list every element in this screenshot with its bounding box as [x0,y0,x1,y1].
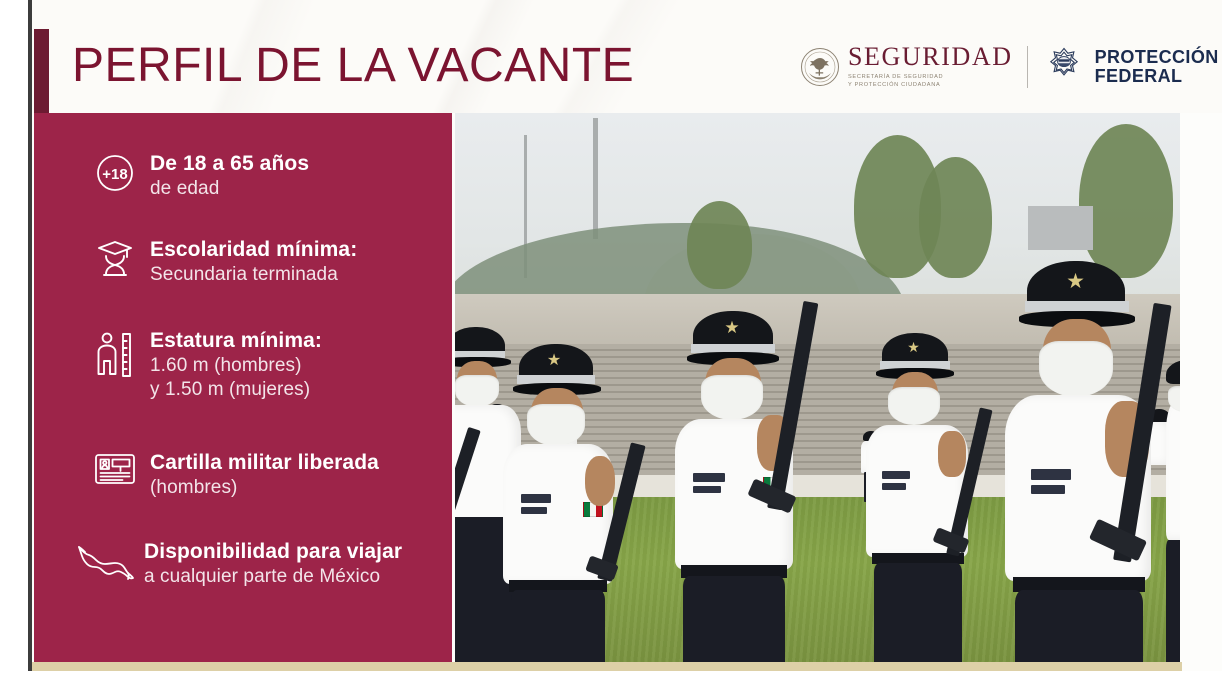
height-ruler-person-icon [92,328,138,380]
seguridad-subtitle: SECRETARÍA DE SEGURIDAD Y PROTECCIÓN CIU… [848,73,1013,89]
title-accent-bar [34,29,49,113]
graduation-cap-icon [92,237,138,283]
seguridad-word: SEGURIDAD [848,44,1013,70]
requirement-title: Disponibilidad para viajar [144,539,402,565]
age-plus-18-icon: +18 [92,151,138,193]
police-star-badge-icon [1042,45,1086,89]
requirement-text-schooling: Escolaridad mínima: Secundaria terminada [150,237,357,287]
requirement-item-travel: Disponibilidad para viajar a cualquier p… [76,539,402,589]
requirement-title: De 18 a 65 años [150,151,309,177]
requirement-subtitle: a cualquier parte de México [144,565,402,589]
seguridad-subtitle-line2: Y PROTECCIÓN CIUDADANA [848,81,1013,89]
left-edge-rule [28,0,32,698]
requirements-panel: +18 De 18 a 65 años de edad [34,113,452,662]
seguridad-logo: SEGURIDAD SECRETARÍA DE SEGURIDAD Y PROT… [800,44,1013,89]
requirement-title: Estatura mínima: [150,328,322,354]
requirement-item-height: Estatura mínima: 1.60 m (hombres) y 1.50… [92,328,322,401]
photo-tree [687,201,752,289]
requirement-subtitle: Secundaria terminada [150,263,357,287]
requirement-subtitle: (hombres) [150,476,379,500]
bottom-accent-strip [32,662,1182,671]
requirement-text-travel: Disponibilidad para viajar a cualquier p… [144,539,402,589]
seguridad-subtitle-line1: SECRETARÍA DE SEGURIDAD [848,73,1013,81]
mexico-map-icon [76,539,136,585]
mexican-eagle-seal-icon [800,47,840,87]
logo-group: SEGURIDAD SECRETARÍA DE SEGURIDAD Y PROT… [800,44,1219,89]
page-title: PERFIL DE LA VACANTE [72,38,634,93]
requirement-text-age: De 18 a 65 años de edad [150,151,309,201]
requirement-item-schooling: Escolaridad mínima: Secundaria terminada [92,237,357,287]
proteccion-federal-wordmark: PROTECCIÓN FEDERAL [1095,48,1219,86]
pf-line2: FEDERAL [1095,67,1219,86]
requirement-subtitle-2: y 1.50 m (mujeres) [150,378,322,402]
photo-building [1028,206,1093,250]
requirement-subtitle: de edad [150,177,309,201]
requirement-text-military-card: Cartilla militar liberada (hombres) [150,450,379,500]
photo-power-tower [593,118,598,239]
id-card-icon [92,450,138,488]
requirement-subtitle: 1.60 m (hombres) [150,354,322,378]
seguridad-wordmark: SEGURIDAD SECRETARÍA DE SEGURIDAD Y PROT… [848,44,1013,89]
pf-line1: PROTECCIÓN [1095,48,1219,67]
logo-divider [1027,46,1028,88]
cadets-formation-photo: ★ ★ [455,113,1180,662]
proteccion-federal-logo: PROTECCIÓN FEDERAL [1042,45,1219,89]
requirement-item-age: +18 De 18 a 65 años de edad [92,151,309,201]
photo-tree [1079,124,1173,278]
bottom-margin [0,671,1222,698]
requirement-title: Cartilla militar liberada [150,450,379,476]
requirement-item-military-card: Cartilla militar liberada (hombres) [92,450,379,500]
requirement-text-height: Estatura mínima: 1.60 m (hombres) y 1.50… [150,328,322,401]
svg-text:+18: +18 [102,166,127,183]
photo-tree [919,157,992,278]
slide-root: PERFIL DE LA VACANTE SEGURIDAD SECRETARÍ… [0,0,1222,698]
requirement-title: Escolaridad mínima: [150,237,357,263]
